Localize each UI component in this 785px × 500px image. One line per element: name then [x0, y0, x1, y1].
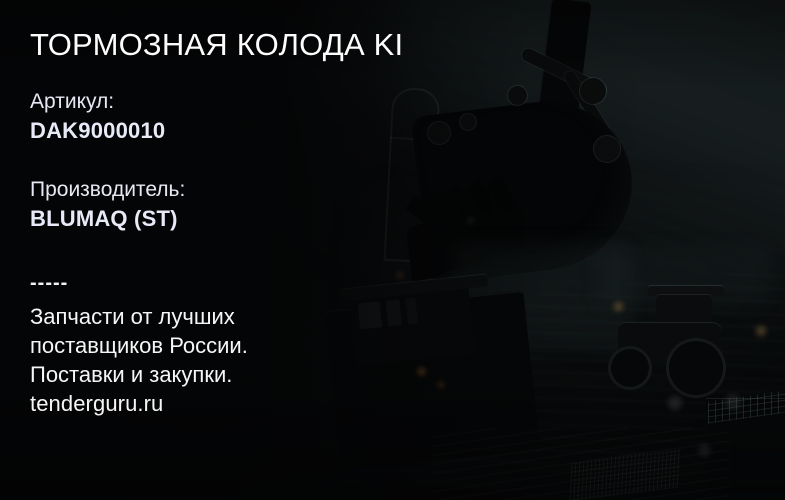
field-article: Артикул: DAK9000010 — [30, 88, 500, 146]
tagline-block: Запчасти от лучших поставщиков России. П… — [30, 302, 248, 418]
article-label: Артикул: — [30, 88, 500, 116]
tagline-line: поставщиков России. — [30, 331, 248, 360]
article-value: DAK9000010 — [30, 116, 500, 146]
product-title: ТОРМОЗНАЯ КОЛОДА KI — [30, 26, 403, 64]
field-manufacturer: Производитель: BLUMAQ (ST) — [30, 176, 500, 234]
divider-dashes: ----- — [30, 272, 68, 294]
tagline-line: Запчасти от лучших — [30, 302, 248, 331]
manufacturer-label: Производитель: — [30, 176, 500, 204]
banner-content: ТОРМОЗНАЯ КОЛОДА KI Артикул: DAK9000010 … — [30, 0, 500, 500]
manufacturer-value: BLUMAQ (ST) — [30, 204, 500, 234]
tagline-line: Поставки и закупки. — [30, 360, 248, 389]
product-banner: ТОРМОЗНАЯ КОЛОДА KI Артикул: DAK9000010 … — [0, 0, 785, 500]
site-url: tenderguru.ru — [30, 389, 248, 418]
